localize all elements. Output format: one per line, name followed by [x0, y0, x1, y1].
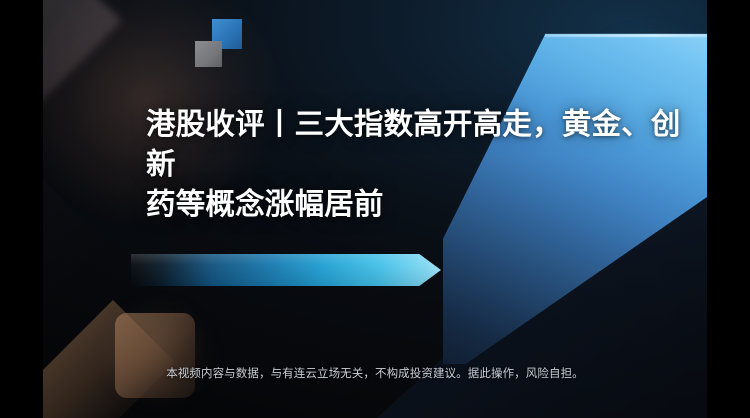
diagonal-light-streak — [43, 0, 122, 275]
copper-haze-glow — [89, 286, 319, 418]
logo-square-gray — [195, 41, 222, 67]
cyan-arrow-bar-sheen — [131, 254, 441, 286]
copper-diagonal-band — [43, 300, 175, 418]
cyan-arrow-bar — [131, 254, 441, 286]
headline-line-2: 药等概念涨幅居前 — [146, 188, 384, 221]
letterbox-right — [707, 0, 750, 418]
content-stage: 港股收评丨三大指数高开高走，黄金、创新药等概念涨幅居前 本视频内容与数据，与有连… — [43, 0, 707, 418]
headline-line-1: 港股收评丨三大指数高开高走，黄金、创新 — [146, 108, 681, 181]
two-squares-logo — [195, 19, 247, 69]
diagonal-sweep — [43, 40, 115, 418]
video-cover-card: 港股收评丨三大指数高开高走，黄金、创新药等概念涨幅居前 本视频内容与数据，与有连… — [0, 0, 750, 418]
page-title: 港股收评丨三大指数高开高走，黄金、创新药等概念涨幅居前 — [146, 105, 706, 225]
letterbox-left — [0, 0, 43, 418]
disclaimer-text: 本视频内容与数据，与有连云立场无关，不构成投资建议。据此操作，风险自担。 — [43, 366, 707, 382]
blue-polygon-top-rim — [545, 34, 707, 37]
copper-rounded-square — [115, 313, 195, 398]
